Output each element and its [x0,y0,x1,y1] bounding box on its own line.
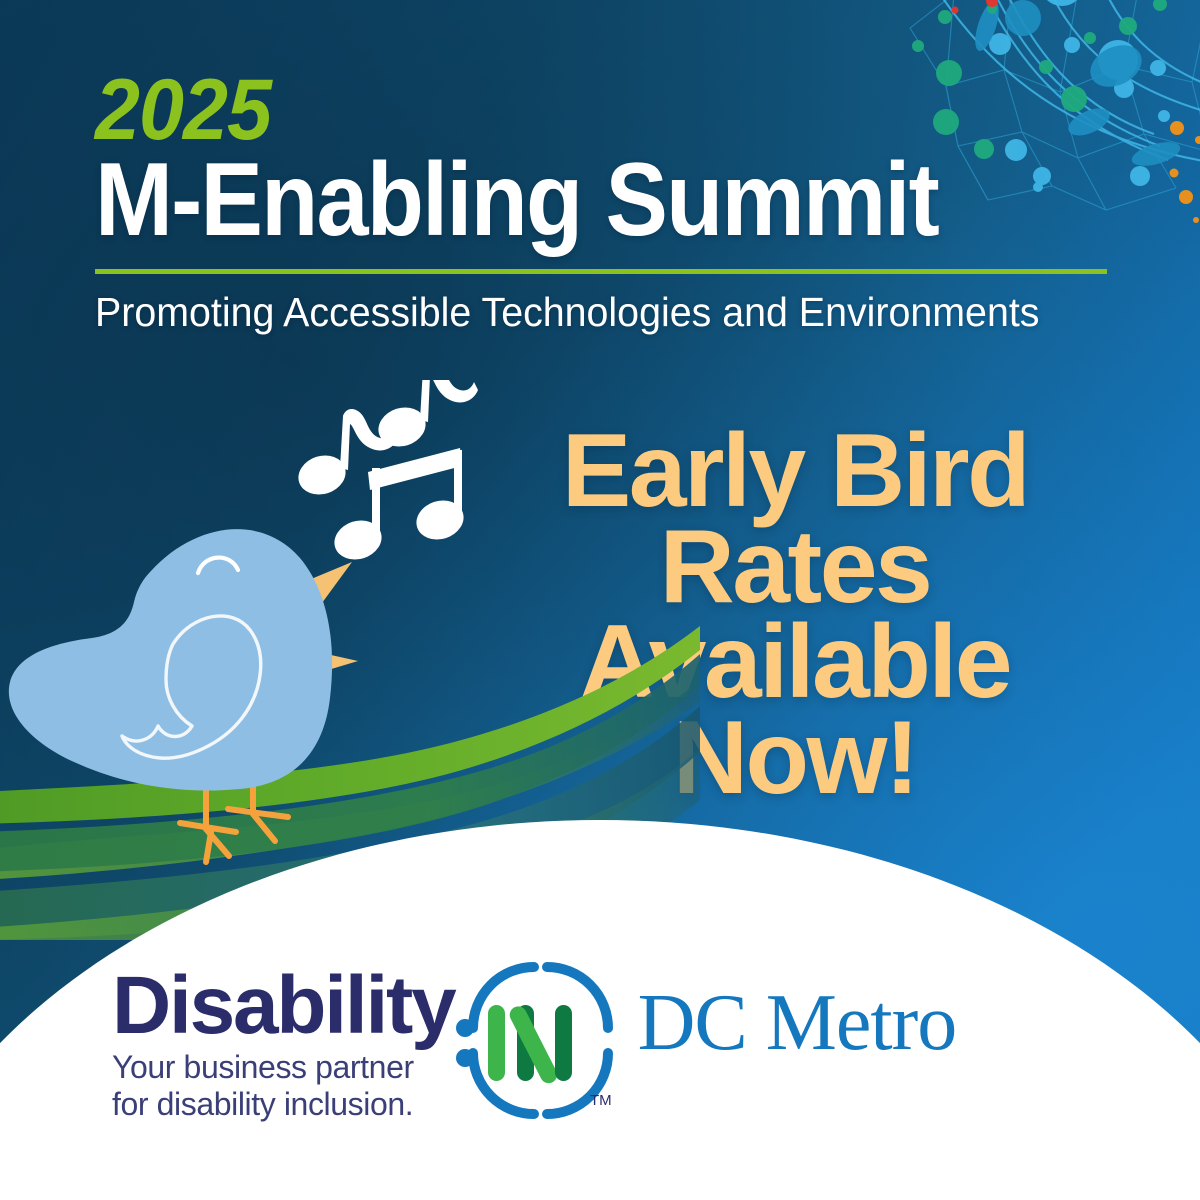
headline-line-2: Rates [470,520,1120,616]
trademark-symbol: TM [590,1092,612,1109]
colon-dots-icon [456,1019,474,1067]
headline-line-1: Early Bird [470,424,1120,520]
headline-line-4: Now! [470,711,1120,807]
green-divider-rule [95,269,1107,274]
header-block: 2025 M-Enabling Summit Promoting Accessi… [95,74,1110,334]
event-tagline: Promoting Accessible Technologies and En… [95,291,1069,334]
disability-in-mark-icon: TM [447,953,622,1128]
logo-tagline: Your business partner for disability inc… [112,1049,455,1123]
promo-poster: 2025 M-Enabling Summit Promoting Accessi… [0,0,1200,1200]
logo-tagline-line-2: for disability inclusion. [112,1086,455,1123]
letter-n-right-stem [555,1005,572,1081]
disability-in-logo: Disability Your business partner for dis… [112,967,455,1123]
headline-early-bird: Early Bird Rates Available Now! [470,424,1120,807]
footer-logo-area: Disability Your business partner for dis… [0,945,1200,1200]
event-title: M-Enabling Summit [95,152,1009,249]
logo-lockup: Disability Your business partner for dis… [112,967,956,1128]
logo-tagline-line-1: Your business partner [112,1049,455,1086]
headline-line-3: Available [470,615,1120,711]
chapter-name: DC Metro [638,983,957,1063]
disability-wordmark: Disability [112,967,455,1046]
event-year: 2025 [95,74,1049,146]
letter-i-bar [488,1005,505,1081]
